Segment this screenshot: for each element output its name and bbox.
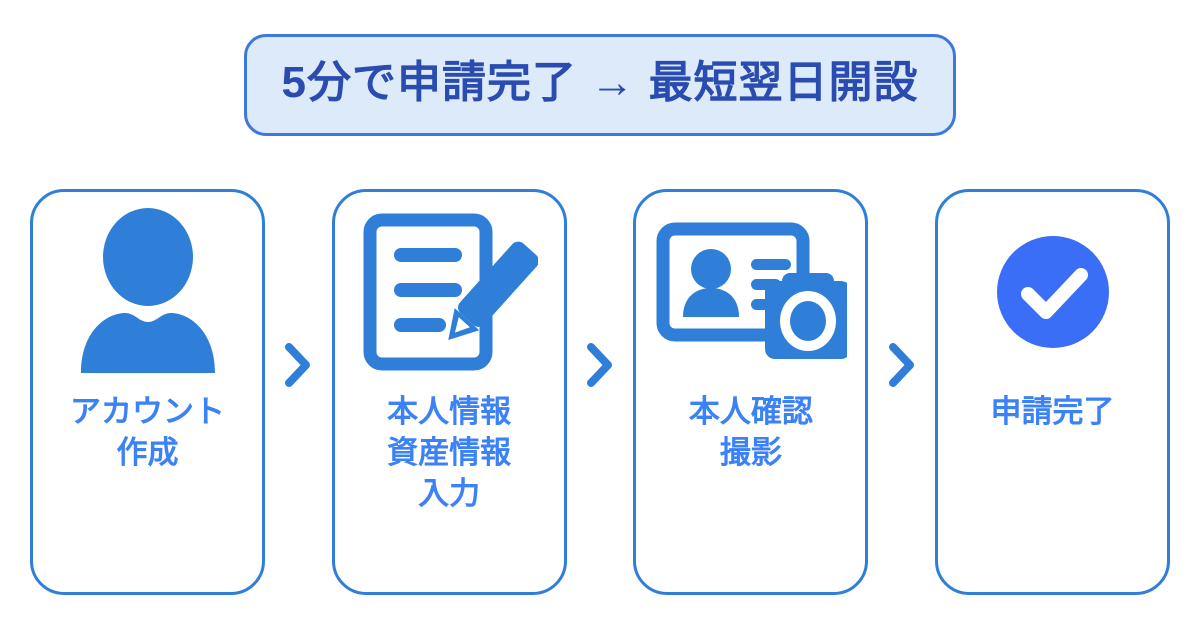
step-separator-2 bbox=[567, 189, 634, 595]
step-icon-container bbox=[636, 192, 865, 392]
person-icon bbox=[73, 207, 223, 377]
step-label: 申請完了 bbox=[985, 392, 1121, 433]
step-label: 本人情報 資産情報 入力 bbox=[381, 392, 517, 515]
chevron-right-icon bbox=[285, 343, 311, 387]
check-circle-icon bbox=[995, 234, 1111, 350]
document-pencil-icon bbox=[360, 212, 538, 372]
steps-row: アカウント 作成 本人情報 資産情報 入力 bbox=[30, 189, 1170, 595]
step-card-identity-photo[interactable]: 本人確認 撮影 bbox=[633, 189, 868, 595]
banner-text: 5分で申請完了 → 最短翌日開設 bbox=[282, 61, 919, 105]
chevron-right-icon bbox=[889, 343, 915, 387]
highlight-banner: 5分で申請完了 → 最短翌日開設 bbox=[244, 34, 956, 136]
step-card-account-create[interactable]: アカウント 作成 bbox=[30, 189, 265, 595]
step-icon-container bbox=[33, 192, 262, 392]
step-separator-1 bbox=[265, 189, 332, 595]
banner-container: 5分で申請完了 → 最短翌日開設 bbox=[0, 34, 1200, 136]
step-icon-container bbox=[335, 192, 564, 392]
step-separator-3 bbox=[868, 189, 935, 595]
step-label: 本人確認 撮影 bbox=[683, 392, 819, 474]
id-card-camera-icon bbox=[655, 221, 847, 363]
step-icon-container bbox=[938, 192, 1167, 392]
chevron-right-icon bbox=[587, 343, 613, 387]
step-label: アカウント 作成 bbox=[64, 392, 231, 474]
step-card-personal-asset-info[interactable]: 本人情報 資産情報 入力 bbox=[332, 189, 567, 595]
step-card-application-complete[interactable]: 申請完了 bbox=[935, 189, 1170, 595]
